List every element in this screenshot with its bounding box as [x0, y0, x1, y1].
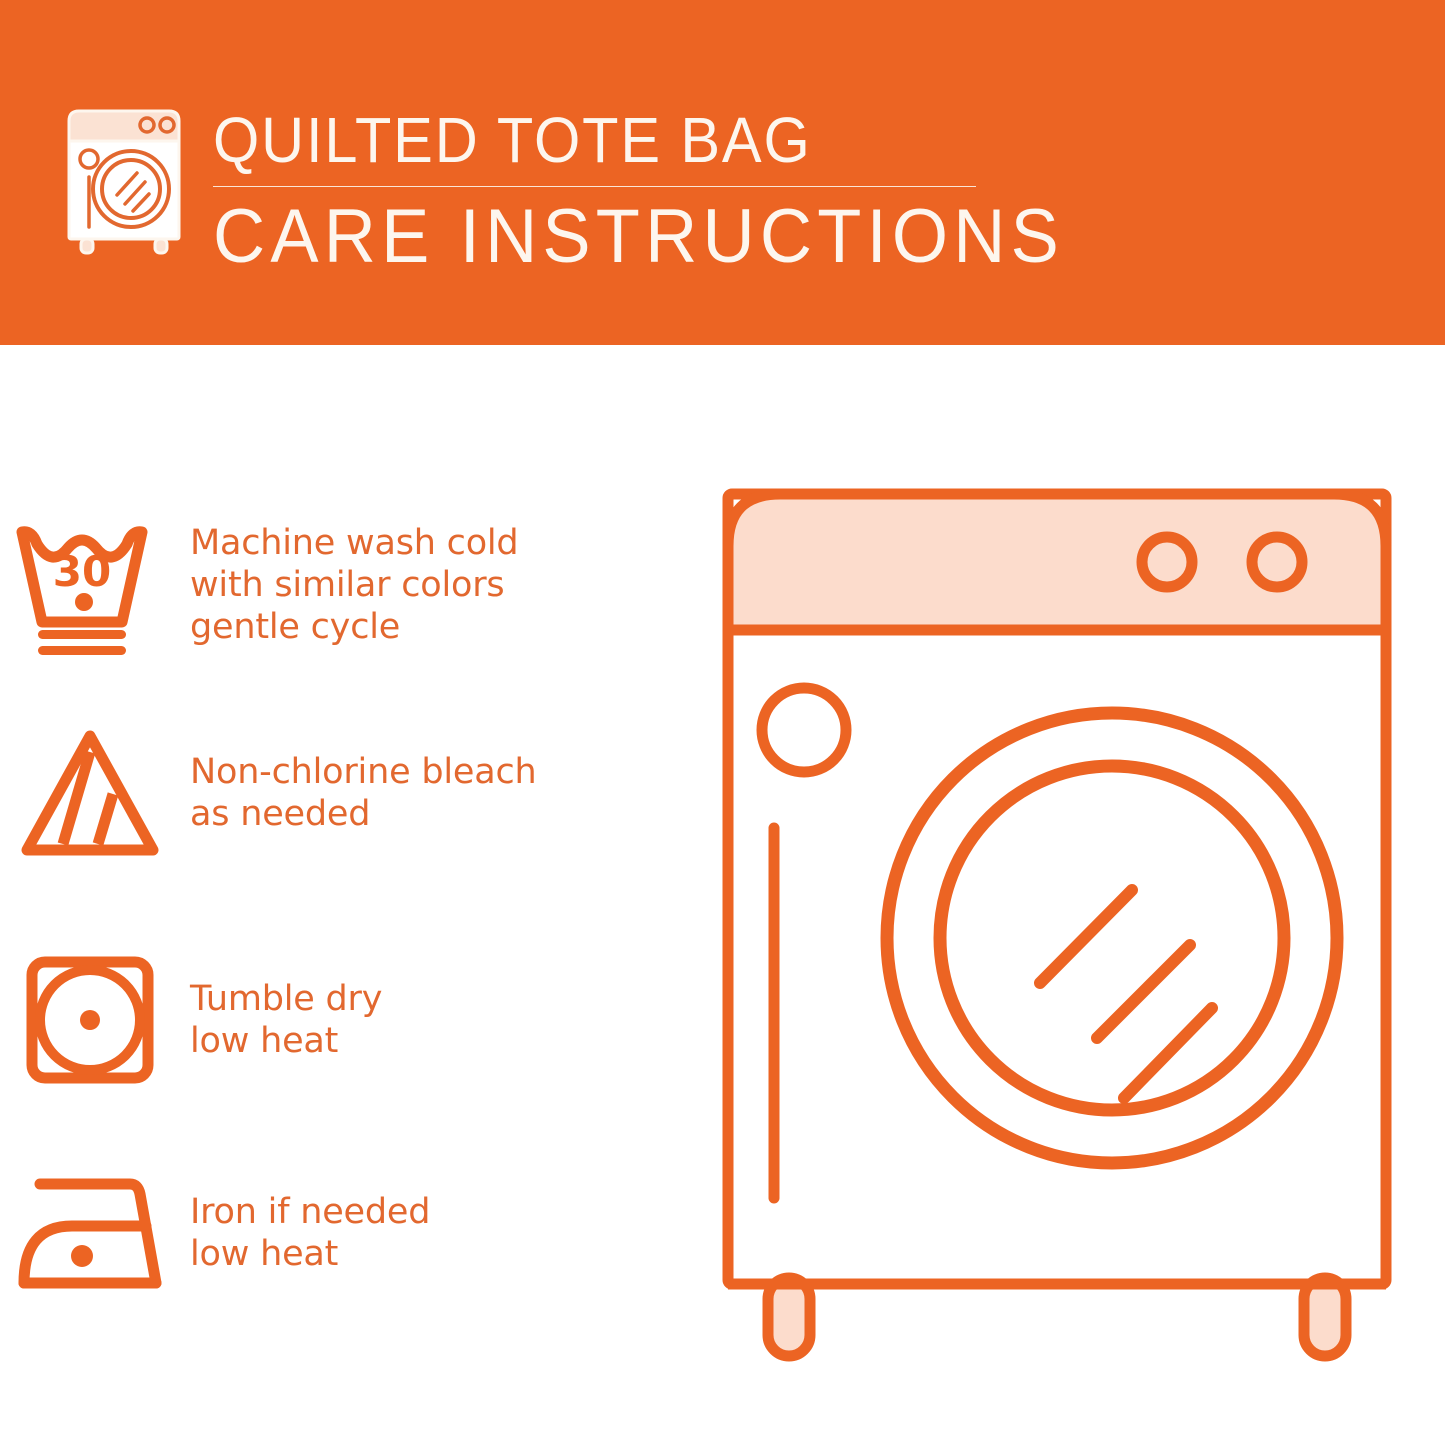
control-panel: [728, 494, 1386, 630]
care-row: Non-chlorine bleach as needed: [0, 703, 700, 883]
page-title: QUILTED TOTE BAG: [213, 104, 948, 176]
washing-machine-icon: [63, 103, 185, 255]
header-banner: QUILTED TOTE BAG CARE INSTRUCTIONS: [0, 0, 1445, 345]
wash-temp-label: 30: [53, 547, 111, 596]
care-row: Tumble dry low heat: [0, 930, 700, 1110]
care-instruction-text: Machine wash cold with similar colors ge…: [180, 522, 518, 648]
bleach-triangle-icon: [0, 718, 180, 868]
washing-machine-illustration: [712, 478, 1402, 1378]
header-text-block: QUILTED TOTE BAG CARE INSTRUCTIONS: [213, 104, 1003, 279]
care-row: 30 Machine wash cold with similar colors…: [0, 495, 700, 675]
care-instruction-list: 30 Machine wash cold with similar colors…: [0, 345, 700, 1445]
title-divider: [213, 186, 976, 187]
iron-icon: [0, 1158, 180, 1308]
machine-leg-left: [768, 1278, 810, 1356]
care-instruction-text: Iron if needed low heat: [180, 1191, 430, 1275]
wash-tub-30-icon: 30: [0, 510, 180, 660]
care-instruction-text: Non-chlorine bleach as needed: [180, 751, 536, 835]
care-instructions-page: QUILTED TOTE BAG CARE INSTRUCTIONS 30: [0, 0, 1445, 1445]
machine-leg-right: [1304, 1278, 1346, 1356]
tumble-dry-icon: [0, 945, 180, 1095]
care-row: Iron if needed low heat: [0, 1145, 700, 1320]
page-subtitle: CARE INSTRUCTIONS: [213, 195, 964, 279]
care-instruction-text: Tumble dry low heat: [180, 978, 382, 1062]
